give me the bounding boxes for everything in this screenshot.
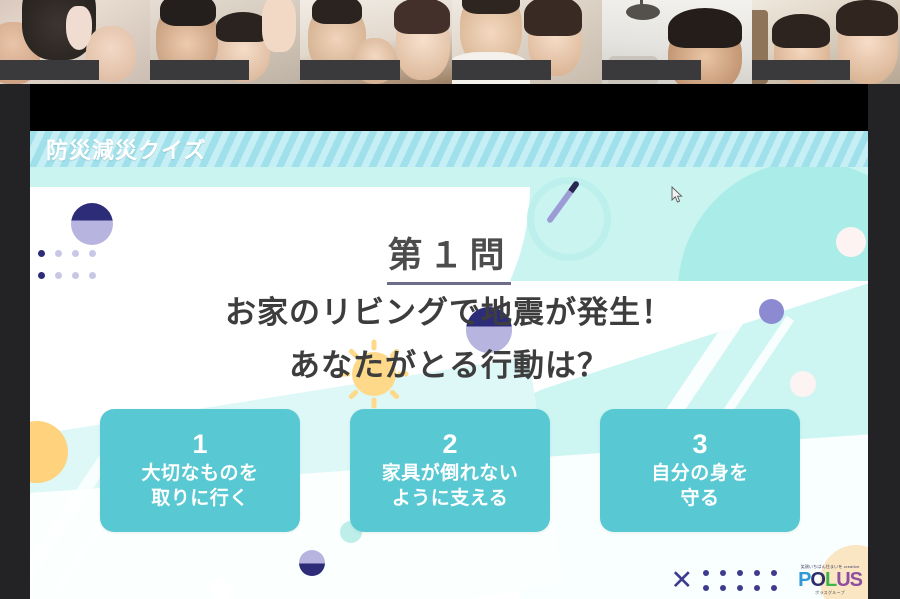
screen-root: ✕ C ▶ ✎ ♻ Q ◠ 防災減災クイズ 第１問 お家のリビングで地震が発生！…: [0, 0, 900, 599]
logo-letter-p: P: [798, 569, 810, 591]
participant-name-bar: [752, 60, 850, 80]
participant-video-strip: [0, 0, 900, 84]
participant-tile-3[interactable]: [300, 0, 452, 84]
logo-letter-o: O: [810, 569, 825, 591]
question-number-row: 第１問: [30, 227, 868, 285]
answer-number-3: 3: [692, 430, 707, 458]
stage-letterbox-top: [30, 84, 868, 131]
answer-options: 1 大切なものを 取りに行く 2 家具が倒れない ように支える 3 自分の身を …: [100, 409, 800, 532]
logo-wordmark: POLUS: [798, 570, 862, 590]
answer-label-2: 家具が倒れない ように支える: [382, 461, 519, 511]
slide-footer: ✕ 笑顔いちばん住まいを creative POLUS ポラスグループ: [670, 565, 862, 595]
decor-pen-icon: [546, 180, 580, 224]
answer-label-1: 大切なものを 取りに行く: [141, 461, 258, 511]
logo-letters-us: US: [836, 569, 862, 591]
answer-label-1-line-1: 大切なものを: [141, 461, 258, 486]
answer-label-3-line-2: 守る: [651, 486, 749, 511]
decor-dot-4: [210, 579, 232, 599]
slide-banner-title: 防災減災クイズ: [46, 133, 206, 165]
participant-tile-4[interactable]: [452, 0, 602, 84]
stage-border-left: [0, 84, 30, 599]
slide-banner: 防災減災クイズ: [30, 131, 868, 167]
answer-label-1-line-2: 取りに行く: [141, 486, 258, 511]
stage-border-right: [868, 84, 900, 599]
mouse-cursor: [671, 186, 683, 204]
participant-tile-5[interactable]: [602, 0, 752, 84]
participant-name-bar: [300, 60, 400, 80]
participant-tile-6[interactable]: [752, 0, 900, 84]
participant-tile-1[interactable]: [0, 0, 150, 84]
question-text: お家のリビングで地震が発生！ あなたがとる行動は？: [30, 286, 868, 393]
answer-card-2[interactable]: 2 家具が倒れない ように支える: [350, 409, 550, 532]
participant-tile-2[interactable]: [150, 0, 300, 84]
answer-number-2: 2: [442, 430, 457, 458]
decor-sun-left: [30, 421, 68, 483]
answer-label-3: 自分の身を 守る: [651, 461, 749, 511]
decor-circle-lilac-3: [299, 550, 325, 576]
polus-logo: 笑顔いちばん住まいを creative POLUS ポラスグループ: [798, 565, 862, 595]
answer-label-3-line-1: 自分の身を: [651, 461, 749, 486]
answer-label-2-line-1: 家具が倒れない: [382, 461, 519, 486]
participant-name-bar: [452, 60, 551, 80]
shared-slide[interactable]: ✕ C ▶ ✎ ♻ Q ◠ 防災減災クイズ 第１問 お家のリビングで地震が発生！…: [30, 131, 868, 599]
answer-number-1: 1: [192, 430, 207, 458]
footer-x-icon: ✕: [670, 567, 693, 594]
participant-name-bar: [602, 60, 701, 80]
question-line-2: あなたがとる行動は？: [30, 339, 868, 392]
question-number: 第１問: [387, 227, 510, 285]
footer-dot-grid: [703, 570, 788, 591]
participant-name-bar: [0, 60, 99, 80]
logo-letter-l: L: [825, 569, 836, 591]
question-line-1: お家のリビングで地震が発生！: [30, 286, 868, 339]
participant-name-bar: [150, 60, 249, 80]
answer-card-1[interactable]: 1 大切なものを 取りに行く: [100, 409, 300, 532]
logo-subtitle: ポラスグループ: [815, 591, 845, 595]
answer-label-2-line-2: ように支える: [382, 486, 519, 511]
answer-card-3[interactable]: 3 自分の身を 守る: [600, 409, 800, 532]
